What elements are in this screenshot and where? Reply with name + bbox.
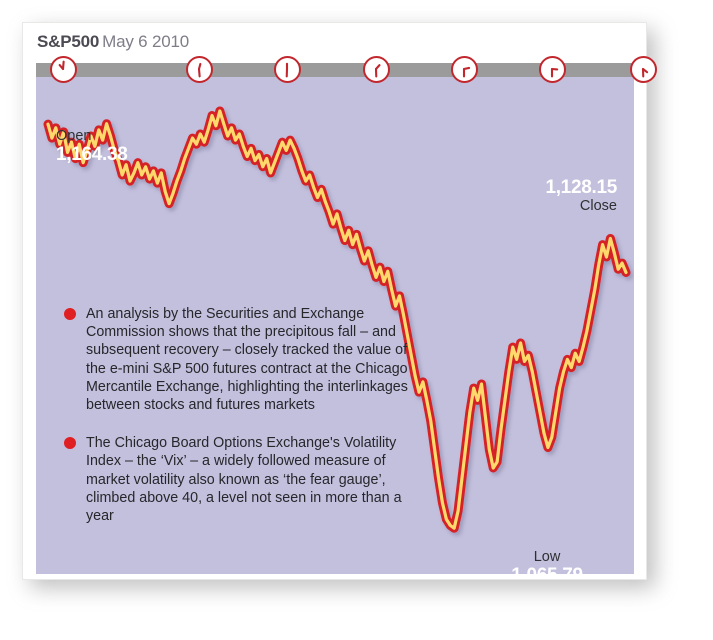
low-annotation: Low 1,065.79: [487, 549, 607, 574]
bullet-dot-icon: [64, 308, 76, 320]
clock-icon-6: [539, 56, 566, 83]
close-annotation: 1,128.15 Close: [545, 177, 617, 215]
bullet-dot-icon: [64, 437, 76, 449]
open-label: Open: [56, 128, 128, 144]
index-name: S&P500: [37, 32, 99, 51]
clock-icon-3: [274, 56, 301, 83]
close-value: 1,128.15: [545, 177, 617, 198]
open-value: 1,164.38: [56, 144, 128, 165]
low-label: Low: [487, 549, 607, 565]
clock-icon-7: [630, 56, 657, 83]
close-label: Close: [545, 198, 617, 214]
chart-plot-area: Open 1,164.38 1,128.15 Close Low 1,065.7…: [36, 77, 634, 574]
note-vix-volatility: The Chicago Board Options Exchange's Vol…: [64, 434, 414, 525]
clock-icon-4: [363, 56, 390, 83]
open-annotation: Open 1,164.38: [56, 128, 128, 166]
clock-icon-1: [50, 56, 77, 83]
note-text: The Chicago Board Options Exchange's Vol…: [86, 435, 402, 524]
infographic-root: S&P500May 6 2010 Open 1,: [0, 0, 713, 640]
page-title: S&P500May 6 2010: [37, 32, 189, 52]
chart-date: May 6 2010: [102, 32, 189, 51]
clock-icon-2: [186, 56, 213, 83]
note-text: An analysis by the Securities and Exchan…: [86, 306, 408, 413]
sp500-chart-card: S&P500May 6 2010 Open 1,: [22, 22, 647, 580]
note-sec-analysis: An analysis by the Securities and Exchan…: [64, 305, 414, 414]
notes-list: An analysis by the Securities and Exchan…: [64, 305, 414, 525]
clock-icon-5: [451, 56, 478, 83]
low-value: 1,065.79: [487, 565, 607, 574]
